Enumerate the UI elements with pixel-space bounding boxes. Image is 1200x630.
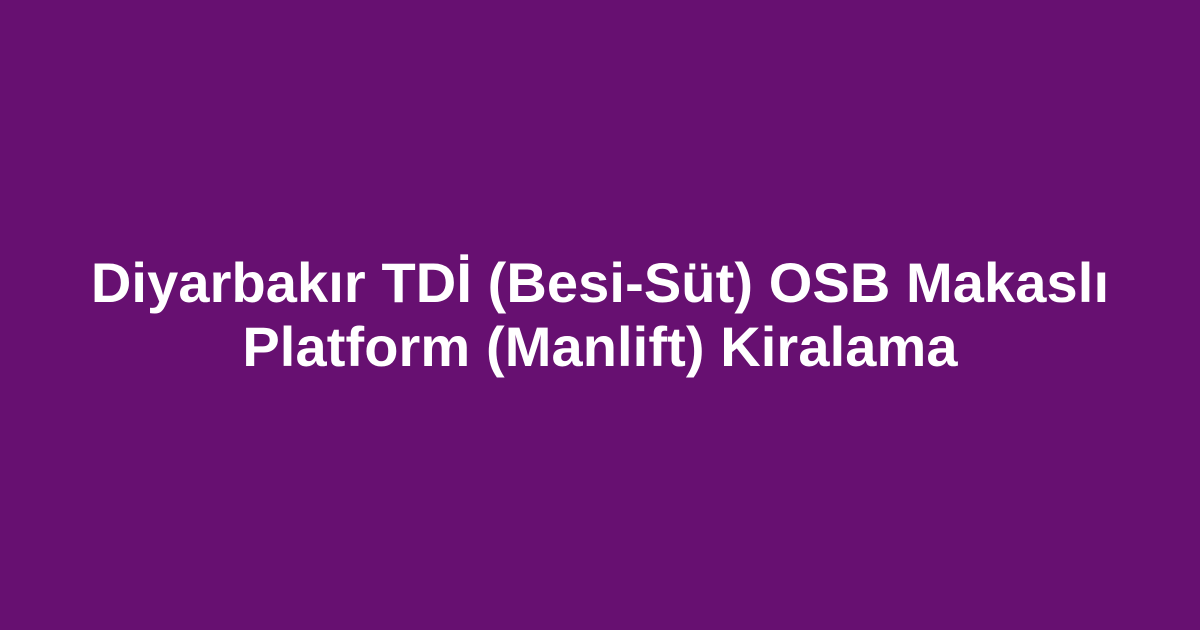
title-card: Diyarbakır TDİ (Besi-Süt) OSB Makaslı Pl… [0, 0, 1200, 630]
page-title: Diyarbakır TDİ (Besi-Süt) OSB Makaslı Pl… [70, 251, 1130, 379]
